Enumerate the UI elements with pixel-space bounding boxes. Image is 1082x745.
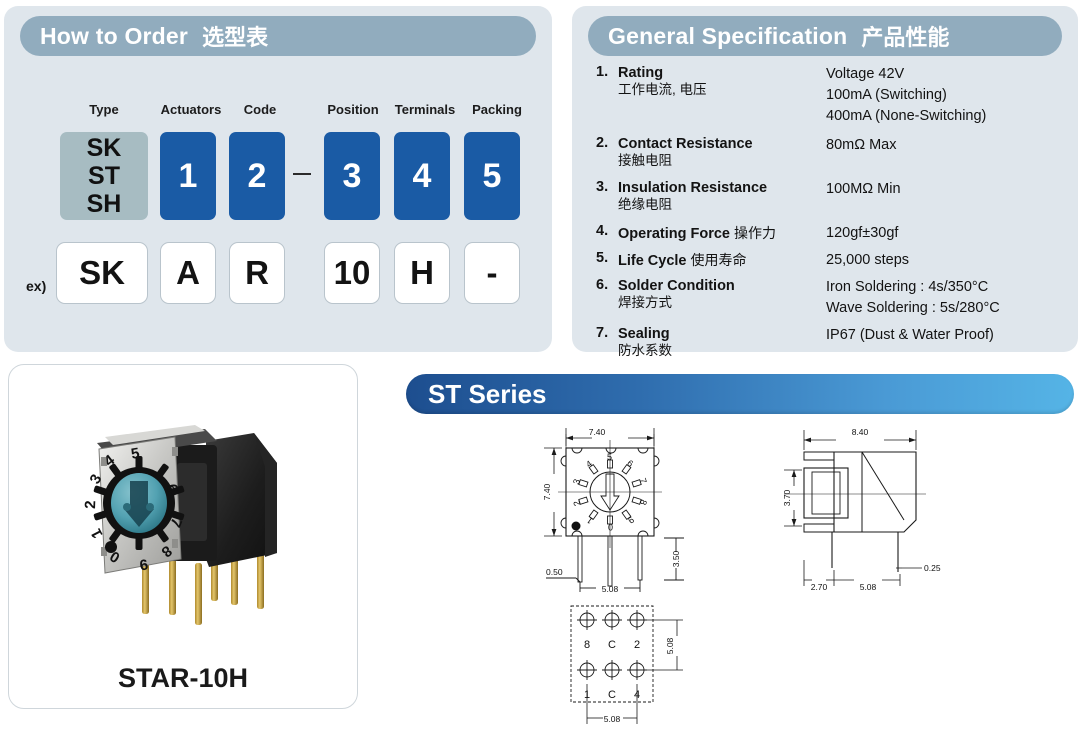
svg-text:2: 2 <box>571 499 582 507</box>
column-label-terminals: Terminals <box>386 102 464 117</box>
spec-row-sealing: 7.Sealing 防水系数 IP67 (Dust & Water Proof) <box>572 325 1078 360</box>
svg-text:2: 2 <box>82 500 99 509</box>
type-option-sh: SH <box>87 190 122 218</box>
product-index-dot <box>105 541 117 553</box>
spec-number-3: 3. <box>596 179 618 195</box>
spec-number-7: 7. <box>596 325 618 341</box>
type-option-sk: SK <box>87 134 122 162</box>
spec-name-cn-contact-resistance: 接触电阻 <box>618 153 826 170</box>
svg-text:9: 9 <box>626 515 636 526</box>
spec-name-contact-resistance: Contact Resistance <box>618 136 753 152</box>
pcb-pad-label-2: 2 <box>634 639 640 651</box>
how-to-order-panel: How to Order 选型表 Type Actuators Code Pos… <box>4 6 552 352</box>
pcb-dim-vertical: 5.08 <box>665 637 675 654</box>
side-view-drawing: 8.40 3.70 2.70 5.08 0.25 <box>776 420 976 595</box>
svg-text:5: 5 <box>607 452 612 462</box>
code-box-terminals[interactable]: 4 <box>394 132 450 220</box>
general-specification-title-cn: 产品性能 <box>861 20 949 52</box>
front-dim-pitch: 5.08 <box>602 584 619 594</box>
example-label: ex) <box>26 278 46 294</box>
spec-value-rating: Voltage 42V 100mA (Switching) 400mA (Non… <box>826 64 986 127</box>
general-specification-header: General Specification 产品性能 <box>588 16 1062 56</box>
spec-row-rating: 1.Rating 工作电流, 电压 Voltage 42V 100mA (Swi… <box>572 64 1078 127</box>
column-label-packing: Packing <box>458 102 536 117</box>
spec-label-rating: 1.Rating 工作电流, 电压 <box>596 64 826 127</box>
spec-number-1: 1. <box>596 64 618 80</box>
code-box-position[interactable]: 3 <box>324 132 380 220</box>
code-box-actuators[interactable]: 1 <box>160 132 216 220</box>
svg-text:6: 6 <box>625 458 635 469</box>
spec-value-contact-resistance: 80mΩ Max <box>826 135 896 170</box>
product-photo-image: 5 4 3 2 1 0 9 8 7 6 <box>9 371 358 661</box>
column-label-position: Position <box>314 102 392 117</box>
example-value-type[interactable]: SK <box>56 242 148 304</box>
spec-label-operating-force: 4.Operating Force操作力 <box>596 223 826 244</box>
spec-name-cn-sealing: 防水系数 <box>618 343 826 360</box>
spec-row-contact-resistance: 2.Contact Resistance 接触电阻 80mΩ Max <box>572 135 1078 170</box>
spec-row-operating-force: 4.Operating Force操作力 120gf±30gf <box>572 223 1078 244</box>
spec-value-insulation-resistance: 100MΩ Min <box>826 179 901 214</box>
order-column-labels: Type Actuators Code Position Terminals P… <box>4 102 552 122</box>
product-photo-card: 5 4 3 2 1 0 9 8 7 6 STAR-10H <box>8 364 358 709</box>
front-view-index-dot <box>572 522 581 531</box>
how-to-order-header: How to Order 选型表 <box>20 16 536 56</box>
side-dim-left: 3.70 <box>782 489 792 506</box>
spec-number-6: 6. <box>596 277 618 293</box>
spec-number-2: 2. <box>596 135 618 151</box>
spec-name-insulation-resistance: Insulation Resistance <box>618 180 767 196</box>
svg-text:3: 3 <box>571 478 582 486</box>
example-value-packing[interactable]: - <box>464 242 520 304</box>
how-to-order-title-cn: 选型表 <box>202 20 268 52</box>
pcb-pad-label-c-bottom: C <box>608 689 616 701</box>
datasheet-page: How to Order 选型表 Type Actuators Code Pos… <box>0 0 1082 745</box>
spec-name-solder-condition: Solder Condition <box>618 278 735 294</box>
side-dim-b: 5.08 <box>860 582 877 592</box>
column-label-code: Code <box>226 102 294 117</box>
example-value-actuators[interactable]: A <box>160 242 216 304</box>
spec-number-4: 4. <box>596 223 618 239</box>
pcb-dim-horizontal: 5.08 <box>604 714 621 724</box>
spec-label-sealing: 7.Sealing 防水系数 <box>596 325 826 360</box>
spec-name-cn-solder-condition: 焊接方式 <box>618 295 826 312</box>
spec-label-life-cycle: 5.Life Cycle使用寿命 <box>596 250 826 271</box>
pcb-pad-label-8: 8 <box>584 639 590 651</box>
front-dim-top: 7.40 <box>589 427 606 437</box>
spec-name-operating-force: Operating Force <box>618 226 730 242</box>
spec-name-cn-insulation-resistance: 绝缘电阻 <box>618 197 826 214</box>
spec-name-sealing: Sealing <box>618 326 670 342</box>
svg-text:1: 1 <box>585 515 595 526</box>
general-specification-panel: General Specification 产品性能 1.Rating 工作电流… <box>572 6 1078 352</box>
front-dim-pin-length: 3.50 <box>671 550 681 567</box>
side-dim-top: 8.40 <box>852 427 869 437</box>
how-to-order-title-en: How to Order <box>40 23 188 50</box>
column-label-type: Type <box>56 102 152 117</box>
svg-text:8: 8 <box>638 498 649 506</box>
front-dim-left: 7.40 <box>542 483 552 500</box>
pcb-pad-label-c-top: C <box>608 639 616 651</box>
example-value-code[interactable]: R <box>229 242 285 304</box>
svg-text:7: 7 <box>638 477 649 485</box>
product-caption: STAR-10H <box>9 663 357 694</box>
svg-text:9: 9 <box>138 555 149 573</box>
svg-text:4: 4 <box>584 458 594 469</box>
example-value-terminals[interactable]: H <box>394 242 450 304</box>
code-box-code[interactable]: 2 <box>229 132 285 220</box>
spec-label-contact-resistance: 2.Contact Resistance 接触电阻 <box>596 135 826 170</box>
spec-value-sealing: IP67 (Dust & Water Proof) <box>826 325 994 360</box>
code-box-type[interactable]: SK ST SH <box>60 132 148 220</box>
front-dim-pin-width: 0.50 <box>546 567 563 577</box>
side-dim-c: 0.25 <box>924 563 941 573</box>
spec-row-solder-condition: 6.Solder Condition 焊接方式 Iron Soldering :… <box>572 277 1078 319</box>
spec-row-life-cycle: 5.Life Cycle使用寿命 25,000 steps <box>572 250 1078 271</box>
technical-drawings: 5 6 7 8 9 0 1 2 3 4 <box>406 420 1082 742</box>
example-value-position[interactable]: 10 <box>324 242 380 304</box>
spec-number-5: 5. <box>596 250 618 266</box>
spec-name-cn-life-cycle: 使用寿命 <box>691 252 747 268</box>
svg-text:0: 0 <box>608 522 613 532</box>
spec-value-solder-condition: Iron Soldering : 4s/350°C Wave Soldering… <box>826 277 1000 319</box>
spec-name-rating: Rating <box>618 65 663 81</box>
pcb-footprint-drawing: 8 C 2 1 C 4 5.08 5.08 <box>551 598 721 733</box>
spec-name-cn-rating: 工作电流, 电压 <box>618 82 826 99</box>
code-separator-dash <box>293 173 311 175</box>
code-box-packing[interactable]: 5 <box>464 132 520 220</box>
column-label-actuators: Actuators <box>152 102 230 117</box>
spec-label-solder-condition: 6.Solder Condition 焊接方式 <box>596 277 826 319</box>
pcb-pad-label-1: 1 <box>584 689 590 701</box>
spec-label-insulation-resistance: 3.Insulation Resistance 绝缘电阻 <box>596 179 826 214</box>
spec-row-insulation-resistance: 3.Insulation Resistance 绝缘电阻 100MΩ Min <box>572 179 1078 214</box>
type-option-st: ST <box>88 162 120 190</box>
side-dim-a: 2.70 <box>811 582 828 592</box>
st-series-title: ST Series <box>428 379 547 410</box>
spec-value-life-cycle: 25,000 steps <box>826 250 909 271</box>
spec-name-life-cycle: Life Cycle <box>618 253 687 269</box>
spec-value-operating-force: 120gf±30gf <box>826 223 898 244</box>
specification-list: 1.Rating 工作电流, 电压 Voltage 42V 100mA (Swi… <box>572 60 1078 360</box>
spec-name-cn-operating-force: 操作力 <box>734 225 776 241</box>
pcb-pad-label-4: 4 <box>634 689 640 701</box>
general-specification-title-en: General Specification <box>608 23 847 50</box>
front-view-drawing: 5 6 7 8 9 0 1 2 3 4 <box>536 420 726 595</box>
st-series-banner: ST Series <box>406 374 1074 414</box>
